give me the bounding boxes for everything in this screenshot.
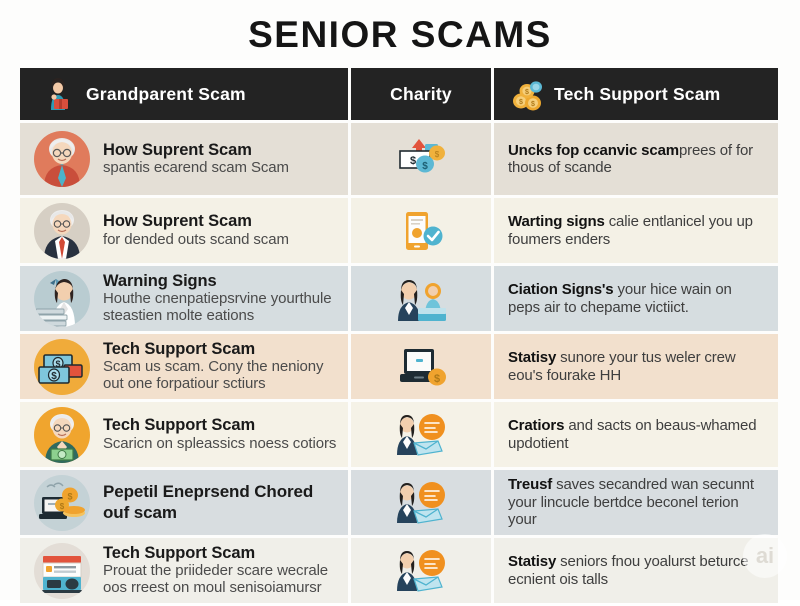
row-cell-grandparent: Tech Support Scam Scaricn on spleassics … <box>20 402 348 467</box>
row-cell-grandparent: $ $ Pepetil Eneprsend Chored ouf scam <box>20 470 348 535</box>
row-paragraph-bold: Ciation Signs's <box>508 281 614 298</box>
row-cell-grandparent: Tech Support Scam Prouat the priideder s… <box>20 538 348 603</box>
row-text: Tech Support Scam Scaricn on spleassics … <box>103 416 336 452</box>
row-cell-charity <box>351 402 491 467</box>
row-heading: Tech Support Scam <box>103 416 336 434</box>
laptop-coin-icon: $ <box>392 343 450 391</box>
svg-text:$: $ <box>525 89 529 96</box>
row-cell-tech-support: Treusf saves secandred wan secunnt your … <box>494 470 778 535</box>
row-paragraph: Warting signs calie entlanicel you up fo… <box>508 213 764 248</box>
row-text: Tech Support Scam Scam us scam. Cony the… <box>103 340 338 393</box>
row-heading: How Suprent Scam <box>103 212 289 230</box>
row-paragraph: Statisy sunore your tus weler crew eou's… <box>508 349 764 384</box>
row-cell-grandparent: How Suprent Scam spantis ecarend scam Sc… <box>20 123 348 195</box>
table-row: $ $ Pepetil Eneprsend Chored ouf scam <box>20 470 778 535</box>
row-paragraph: Cratiors and sacts on beaus-whamed updot… <box>508 417 764 452</box>
scam-comparison-table: Grandparent Scam Charity $ $ $ <box>20 68 778 606</box>
ai-watermark: ai <box>743 534 787 578</box>
row-cell-grandparent: How Suprent Scam for dended outs scand s… <box>20 198 348 263</box>
row-cell-charity: $ <box>351 334 491 399</box>
woman-with-mail-icon <box>42 77 76 111</box>
table-row: Warning Signs Houthe cnenpatiepsrvine yo… <box>20 266 778 331</box>
agent-message-icon <box>392 547 450 595</box>
row-paragraph-bold: Statisy <box>508 553 556 570</box>
row-paragraph: Statisy seniors fnou yoalurst beturce ec… <box>508 553 764 588</box>
row-cell-tech-support: Ciation Signs's your hice wain on peps a… <box>494 266 778 331</box>
senior-man-suit-avatar-icon <box>34 203 90 259</box>
row-paragraph-bold: Cratiors <box>508 417 564 434</box>
computer-documents-icon <box>34 543 90 599</box>
row-text: How Suprent Scam for dended outs scand s… <box>103 212 289 248</box>
column-header-label: Grandparent Scam <box>86 84 246 105</box>
row-cell-grandparent: Warning Signs Houthe cnenpatiepsrvine yo… <box>20 266 348 331</box>
row-subtext: Prouat the priideder scare wecrale oos r… <box>103 563 338 597</box>
column-header-charity[interactable]: Charity <box>351 68 491 120</box>
table-header-row: Grandparent Scam Charity $ $ $ <box>20 68 778 120</box>
row-text: Warning Signs Houthe cnenpatiepsrvine yo… <box>103 272 338 325</box>
row-heading: Tech Support Scam <box>103 340 338 358</box>
row-paragraph: Uncks fop ccanvic scamprees of for thous… <box>508 142 764 177</box>
svg-text:$: $ <box>410 155 416 167</box>
row-cell-charity <box>351 266 491 331</box>
table-row: How Suprent Scam spantis ecarend scam Sc… <box>20 123 778 195</box>
svg-text:$: $ <box>422 161 428 172</box>
money-check-dollar-coins-icon: $ $ $ <box>392 135 450 183</box>
row-paragraph: Ciation Signs's your hice wain on peps a… <box>508 281 764 316</box>
row-heading: Tech Support Scam <box>103 544 338 562</box>
svg-text:$: $ <box>435 150 440 159</box>
row-subtext: Houthe cnenpatiepsrvine yourthule steast… <box>103 291 338 325</box>
row-cell-tech-support: Warting signs calie entlanicel you up fo… <box>494 198 778 263</box>
tablet-checkmark-icon <box>392 207 450 255</box>
row-heading: How Suprent Scam <box>103 141 289 159</box>
row-cell-charity <box>351 538 491 603</box>
row-cell-charity: $ $ $ <box>351 123 491 195</box>
row-paragraph-bold: Uncks fop ccanvic scam <box>508 142 679 159</box>
row-heading: Pepetil Eneprsend Chored ouf scam <box>103 482 338 522</box>
svg-text:$: $ <box>531 101 535 108</box>
senior-woman-avatar-icon <box>34 131 90 187</box>
column-header-label: Charity <box>390 84 452 105</box>
coins-stack-icon: $ $ $ <box>510 77 544 111</box>
row-subtext: for dended outs scand scam <box>103 232 289 249</box>
infographic-page: SENIOR SCAMS Grandparent Scam <box>0 0 800 600</box>
laptop-coins-icon: $ $ <box>34 475 90 531</box>
svg-text:$: $ <box>67 491 72 501</box>
agent-message-icon <box>392 479 450 527</box>
table-row: How Suprent Scam for dended outs scand s… <box>20 198 778 263</box>
svg-text:$: $ <box>51 371 57 382</box>
svg-text:$: $ <box>434 373 440 385</box>
row-cell-tech-support: Cratiors and sacts on beaus-whamed updot… <box>494 402 778 467</box>
row-subtext: Scam us scam. Cony the neniony out one f… <box>103 359 338 393</box>
row-cell-tech-support: Uncks fop ccanvic scamprees of for thous… <box>494 123 778 195</box>
row-cell-tech-support: Statisy seniors fnou yoalurst beturce ec… <box>494 538 778 603</box>
row-paragraph-bold: Treusf <box>508 476 552 493</box>
row-subtext: Scaricn on spleassics noess cotiors <box>103 436 336 453</box>
row-text: Tech Support Scam Prouat the priideder s… <box>103 544 338 597</box>
table-row: Tech Support Scam Prouat the priideder s… <box>20 538 778 603</box>
page-title: SENIOR SCAMS <box>0 14 800 56</box>
column-header-grandparent-scam[interactable]: Grandparent Scam <box>20 68 348 120</box>
woman-with-books-avatar-icon <box>34 271 90 327</box>
row-cell-charity <box>351 470 491 535</box>
cash-money-icon: $ $ <box>34 339 90 395</box>
row-text: How Suprent Scam spantis ecarend scam Sc… <box>103 141 289 177</box>
row-heading: Warning Signs <box>103 272 338 290</box>
senior-man-money-avatar-icon <box>34 407 90 463</box>
table-row: $ $ Tech Support Scam Scam us scam. Cony… <box>20 334 778 399</box>
row-text: Pepetil Eneprsend Chored ouf scam <box>103 482 338 522</box>
call-center-agent-icon <box>392 275 450 323</box>
svg-text:$: $ <box>519 99 523 106</box>
agent-message-icon <box>392 411 450 459</box>
row-cell-charity <box>351 198 491 263</box>
row-paragraph: Treusf saves secandred wan secunnt your … <box>508 476 764 528</box>
row-paragraph-bold: Warting signs <box>508 213 605 230</box>
row-cell-grandparent: $ $ Tech Support Scam Scam us scam. Cony… <box>20 334 348 399</box>
column-header-tech-support-scam[interactable]: $ $ $ Tech Support Scam <box>494 68 778 120</box>
row-paragraph-bold: Statisy <box>508 349 556 366</box>
row-cell-tech-support: Statisy sunore your tus weler crew eou's… <box>494 334 778 399</box>
column-header-label: Tech Support Scam <box>554 84 720 105</box>
row-subtext: spantis ecarend scam Scam <box>103 160 289 177</box>
table-row: Tech Support Scam Scaricn on spleassics … <box>20 402 778 467</box>
